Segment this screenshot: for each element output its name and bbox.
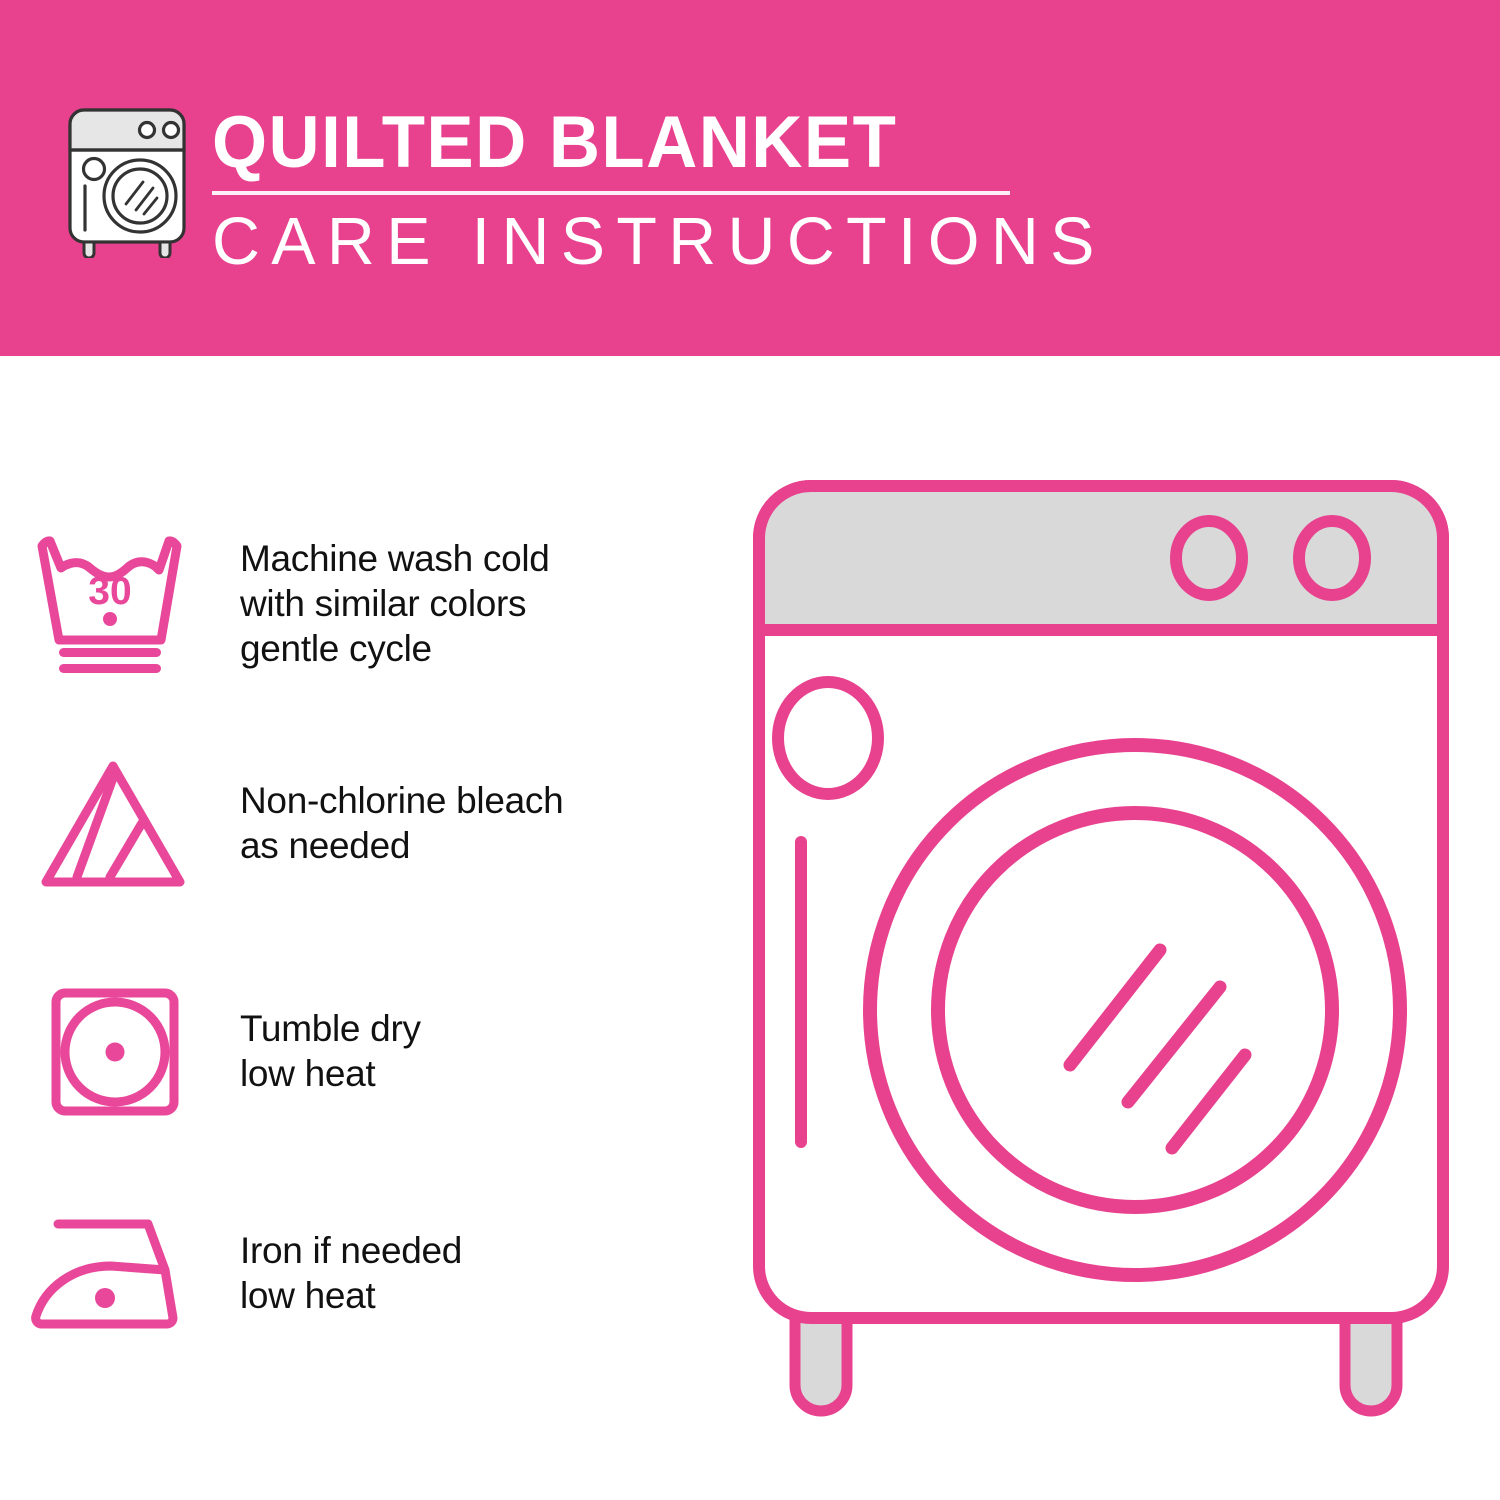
care-instruction-list: 30 Machine wash cold with similar colors… [0, 356, 740, 1500]
care-row-wash: 30 Machine wash cold with similar colors… [0, 508, 740, 698]
care-label-line: Iron if needed [240, 1228, 462, 1273]
svg-text:30: 30 [88, 570, 131, 613]
title-divider [212, 191, 1010, 195]
care-row-bleach: Non-chlorine bleach as needed [0, 728, 740, 918]
care-label-wash: Machine wash cold with similar colors ge… [230, 536, 550, 671]
care-label-line: Machine wash cold [240, 536, 550, 581]
care-row-tumble-dry: Tumble dry low heat [0, 956, 740, 1146]
machine-door-inner-ring [938, 813, 1332, 1207]
machine-indicator-light [778, 682, 878, 794]
machine-leg-right [1345, 1310, 1397, 1411]
wash-tub-30-gentle-icon: 30 [0, 508, 230, 698]
machine-leg-left [795, 1310, 847, 1411]
header-banner: QUILTED BLANKET CARE INSTRUCTIONS [0, 0, 1500, 356]
tumble-dry-low-heat-icon [0, 956, 230, 1146]
care-label-line: Tumble dry [240, 1006, 421, 1051]
care-label-line: with similar colors [240, 581, 550, 626]
machine-knob-left [1176, 521, 1242, 595]
washing-machine-icon [62, 106, 192, 258]
iron-low-heat-icon [0, 1178, 230, 1368]
care-label-tumble-dry: Tumble dry low heat [230, 1006, 421, 1096]
care-label-line: as needed [240, 823, 563, 868]
page-title: QUILTED BLANKET [212, 104, 1201, 182]
care-label-line: gentle cycle [240, 626, 550, 671]
care-row-iron: Iron if needed low heat [0, 1178, 740, 1368]
care-label-line: Non-chlorine bleach [240, 778, 563, 823]
non-chlorine-bleach-triangle-icon [0, 728, 230, 918]
care-label-line: low heat [240, 1051, 421, 1096]
header-text-block: QUILTED BLANKET CARE INSTRUCTIONS [212, 104, 1232, 278]
care-label-bleach: Non-chlorine bleach as needed [230, 778, 563, 868]
page-subtitle: CARE INSTRUCTIONS [212, 206, 1222, 278]
care-label-iron: Iron if needed low heat [230, 1228, 462, 1318]
front-load-washing-machine-illustration [735, 470, 1475, 1430]
machine-knob-right [1299, 521, 1365, 595]
care-label-line: low heat [240, 1273, 462, 1318]
